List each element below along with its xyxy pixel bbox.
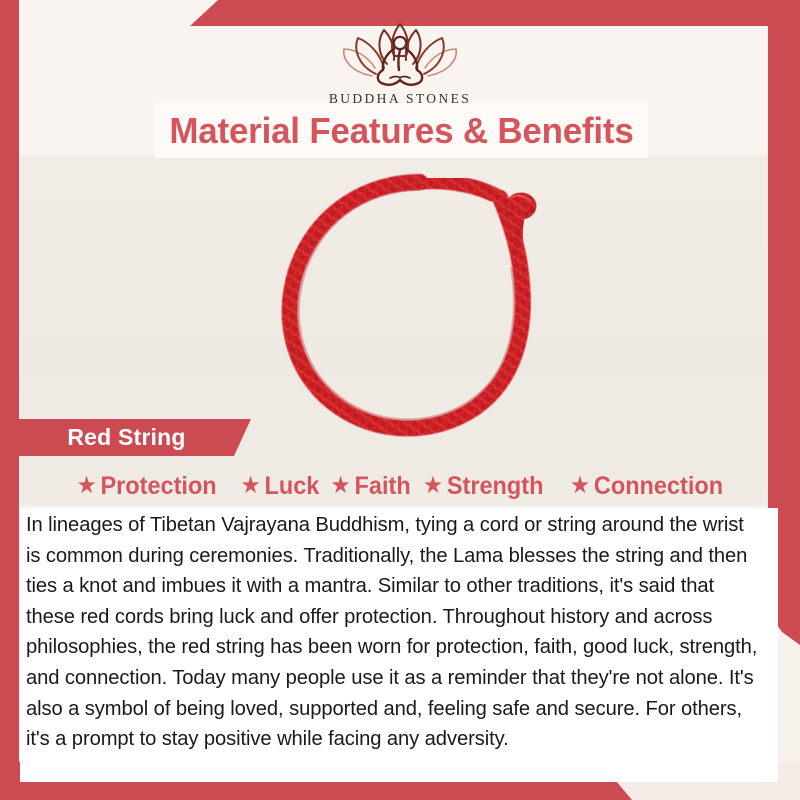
feature-label: Strength — [447, 474, 544, 499]
spacer — [548, 486, 565, 487]
feature-item-protection: ★ Protection — [77, 474, 217, 499]
feature-label: Luck — [265, 474, 320, 499]
feature-item-luck: ★ Luck — [241, 474, 320, 499]
feature-item-connection: ★ Connection — [570, 474, 723, 499]
product-image — [252, 160, 582, 450]
feature-label: Faith — [355, 474, 411, 499]
spacer — [322, 486, 328, 487]
description-text: In lineages of Tibetan Vajrayana Buddhis… — [26, 510, 763, 755]
feature-item-faith: ★ Faith — [331, 474, 411, 499]
feature-item-strength: ★ Strength — [423, 474, 544, 499]
star-icon: ★ — [331, 474, 351, 498]
spacer — [221, 486, 238, 487]
poster-root: BUDDHA STONES Material Features & Benefi… — [0, 0, 800, 800]
star-icon: ★ — [77, 474, 97, 498]
lotus-meditation-icon — [332, 16, 468, 88]
star-icon: ★ — [570, 474, 590, 498]
brand-logo: BUDDHA STONES — [0, 16, 800, 107]
feature-label: Protection — [101, 474, 217, 499]
decorative-band-left — [0, 0, 19, 800]
product-label: Red String — [19, 419, 234, 456]
feature-list: ★ Protection ★ Luck ★ Faith ★ Strength ★… — [24, 466, 776, 506]
star-icon: ★ — [241, 474, 261, 498]
star-icon: ★ — [423, 474, 443, 498]
spacer — [413, 486, 419, 487]
feature-label: Connection — [594, 474, 723, 499]
page-title: Material Features & Benefits — [162, 103, 640, 158]
